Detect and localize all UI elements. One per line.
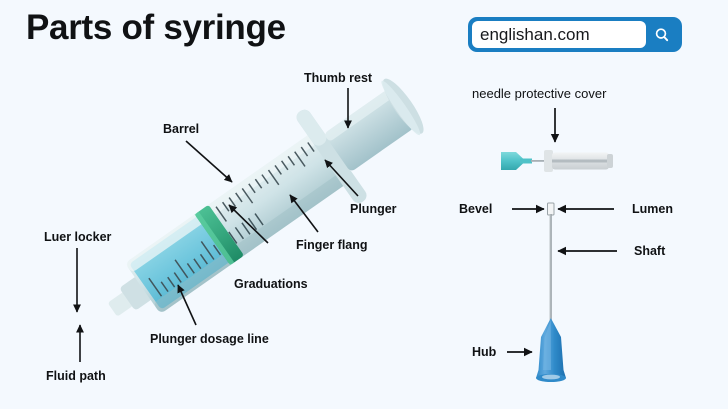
leader-plunger <box>325 160 358 196</box>
thumb-rest <box>377 74 430 138</box>
leader-finger-flange <box>290 195 318 232</box>
syringe-leaders <box>77 88 358 362</box>
needle-hub <box>536 318 566 378</box>
label-finger-flange: Finger flang <box>296 239 368 252</box>
luer-lock-tip <box>104 275 153 321</box>
label-fluid-path: Fluid path <box>46 370 106 383</box>
leader-plunger-dosage-line <box>178 285 196 325</box>
plunger-rod <box>324 89 415 172</box>
page-title: Parts of syringe <box>26 8 286 48</box>
label-hub: Hub <box>472 346 496 359</box>
fluid-column <box>129 215 232 310</box>
search-box[interactable]: englishan.com <box>468 17 682 52</box>
search-icon <box>652 25 672 45</box>
label-lumen: Lumen <box>632 203 673 216</box>
cover-needle-hub <box>501 152 523 170</box>
cover-collar <box>544 150 553 172</box>
label-shaft: Shaft <box>634 245 665 258</box>
label-needle-protective-cover: needle protective cover <box>472 87 606 100</box>
search-button[interactable] <box>646 21 678 48</box>
needle-shaft <box>550 214 552 321</box>
needle-leaders <box>507 209 617 352</box>
label-luer-locker: Luer locker <box>44 231 111 244</box>
label-thumb-rest: Thumb rest <box>304 72 372 85</box>
diagram-page: Parts of syringe englishan.com <box>0 0 728 409</box>
plunger-dosage-seal <box>195 205 244 266</box>
graduation-marks <box>216 142 318 221</box>
needle-illustration <box>536 203 566 382</box>
label-barrel: Barrel <box>163 123 199 136</box>
leader-barrel <box>186 141 232 182</box>
cover-needle-shaft <box>531 160 549 162</box>
bevel-tip <box>548 203 555 215</box>
leader-graduations <box>229 205 268 243</box>
label-plunger: Plunger <box>350 203 397 216</box>
label-graduations: Graduations <box>234 278 308 291</box>
label-bevel: Bevel <box>459 203 492 216</box>
finger-flange <box>294 107 369 206</box>
search-input[interactable]: englishan.com <box>472 21 646 48</box>
protective-cover-body <box>552 153 609 170</box>
label-plunger-dosage-line: Plunger dosage line <box>150 333 269 346</box>
needle-with-cover-illustration <box>501 150 613 172</box>
